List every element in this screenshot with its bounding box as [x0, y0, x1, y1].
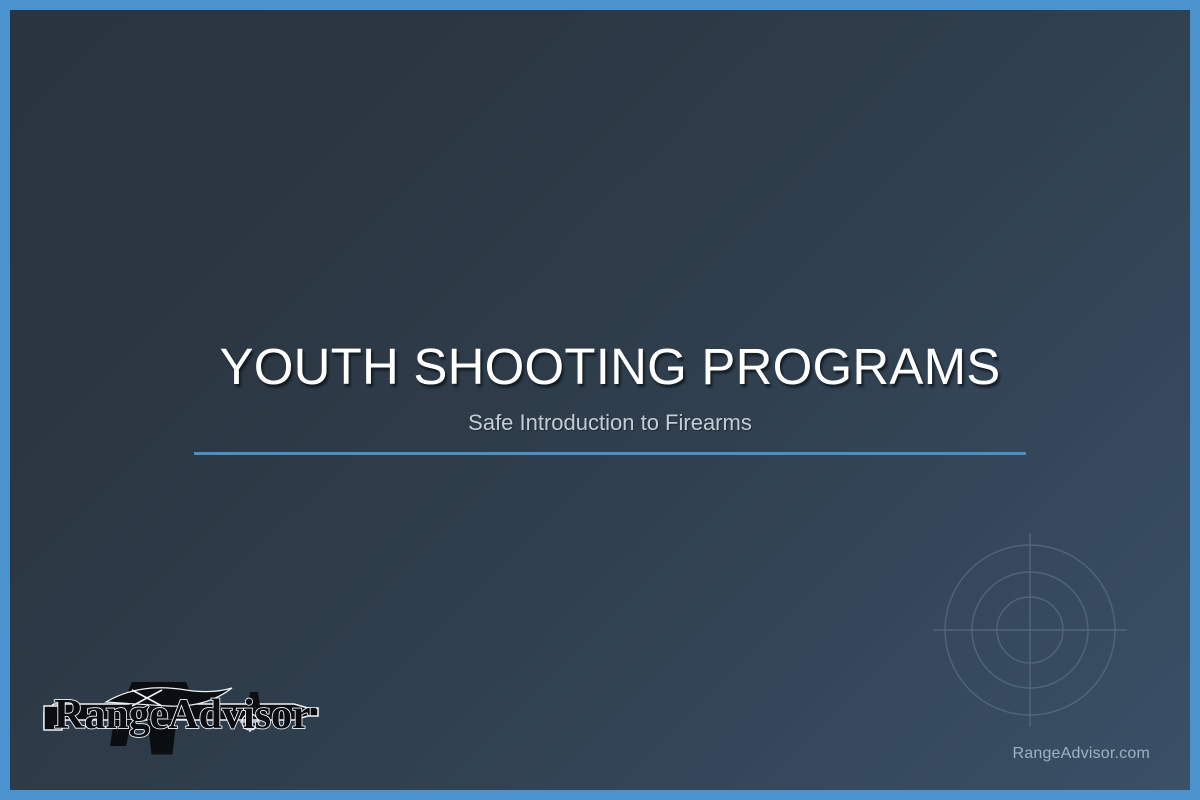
- presentation-slide: YOUTH SHOOTING PROGRAMS Safe Introductio…: [0, 0, 1200, 800]
- slide-frame-border: [0, 0, 1200, 800]
